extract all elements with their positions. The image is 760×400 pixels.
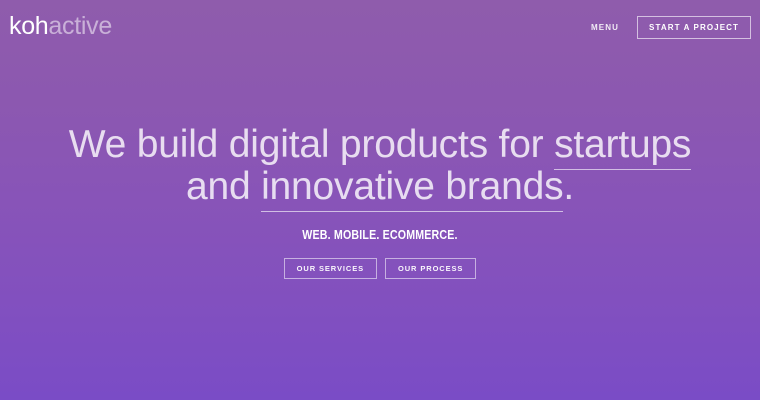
hero-section: kohactive MENU START A PROJECT We build … (0, 0, 760, 400)
hero-subheadline: WEB. MOBILE. ECOMMERCE. (68, 227, 691, 243)
site-logo[interactable]: kohactive (9, 12, 112, 40)
headline-part-1: We build digital products for (69, 123, 554, 166)
logo-text-primary: koh (9, 12, 48, 40)
header-actions: MENU START A PROJECT (589, 16, 751, 39)
hero-content: We build digital products for startups a… (0, 124, 760, 279)
site-header: kohactive MENU START A PROJECT (0, 0, 760, 54)
headline-emphasis-innovative-brands: innovative brands (261, 165, 563, 212)
headline-emphasis-startups: startups (554, 123, 691, 170)
headline-part-2: and (186, 165, 250, 208)
hero-headline: We build digital products for startups a… (0, 124, 760, 208)
hero-action-buttons: OUR SERVICES OUR PROCESS (0, 258, 760, 279)
logo-text-secondary: active (48, 12, 112, 40)
our-services-button[interactable]: OUR SERVICES (284, 258, 377, 279)
headline-part-3: . (563, 165, 574, 208)
menu-toggle-button[interactable]: MENU (589, 19, 621, 36)
start-a-project-button[interactable]: START A PROJECT (637, 16, 751, 39)
our-process-button[interactable]: OUR PROCESS (385, 258, 476, 279)
